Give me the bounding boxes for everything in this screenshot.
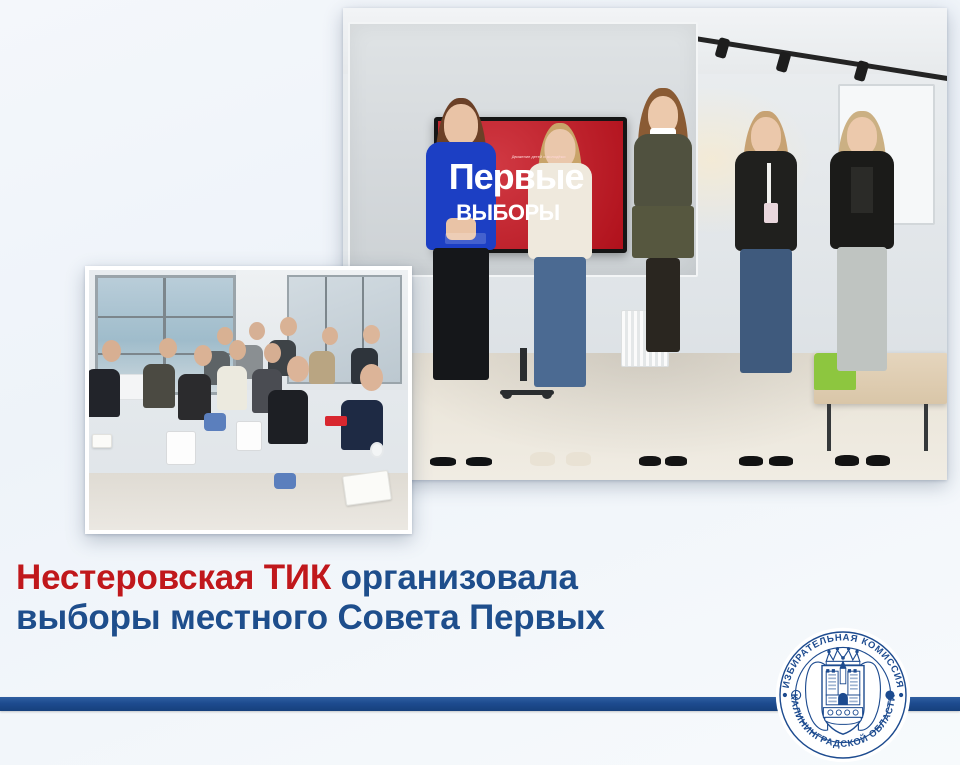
folding-chair xyxy=(166,431,196,465)
audience-head xyxy=(159,338,177,358)
audience-head xyxy=(102,340,121,362)
screen-subtitle: ВЫБОРЫ xyxy=(456,200,560,226)
main-photo: Первые Движение детей и молодёжи ВЫБОРЫ xyxy=(343,8,947,480)
audience-head xyxy=(363,325,380,344)
audience-head xyxy=(249,322,265,340)
document-sheet xyxy=(342,470,392,506)
audience-head xyxy=(287,356,309,382)
emblem-circle-right xyxy=(885,690,894,699)
red-folder xyxy=(325,416,347,426)
blue-chair xyxy=(204,413,226,431)
audience-body xyxy=(217,366,247,410)
screen-logo xyxy=(445,233,486,245)
audience-body xyxy=(309,351,335,384)
screen-caption: Движение детей и молодёжи xyxy=(512,154,566,159)
audience-body xyxy=(86,369,120,417)
audience-body xyxy=(143,364,175,408)
folding-chair xyxy=(236,421,262,451)
audience-head xyxy=(360,364,383,391)
emblem-dot-left xyxy=(783,693,787,697)
document-sheet xyxy=(92,434,112,448)
inset-photo-scene xyxy=(89,270,408,530)
slide-canvas: Первые Движение детей и молодёжи ВЫБОРЫ xyxy=(0,0,960,765)
page-title: Нестеровская ТИК организовала выборы мес… xyxy=(16,558,756,637)
person-figure xyxy=(820,107,905,466)
person-figure xyxy=(621,88,706,466)
caption-line-1: Нестеровская ТИК организовала xyxy=(16,558,756,598)
person-figure xyxy=(724,107,809,466)
audience-head xyxy=(322,327,338,345)
caption-line1-rest: организовала xyxy=(331,558,578,597)
audience-body xyxy=(268,390,308,444)
inset-photo xyxy=(85,266,412,534)
rosette-badge xyxy=(370,442,384,458)
election-commission-emblem: ИЗБИРАТЕЛЬНАЯ КОМИССИЯ КАЛИНИНГРАДСКОЙ О… xyxy=(773,625,913,765)
caption-line-2: выборы местного Совета Первых xyxy=(16,598,756,638)
person-figure xyxy=(415,98,506,466)
screen-title: Первые xyxy=(449,159,584,195)
caption-highlight: Нестеровская ТИК xyxy=(16,558,331,597)
blue-chair xyxy=(274,473,296,489)
emblem-dot-right xyxy=(899,693,903,697)
emblem-svg: ИЗБИРАТЕЛЬНАЯ КОМИССИЯ КАЛИНИНГРАДСКОЙ О… xyxy=(773,625,913,765)
main-photo-scene: Первые Движение детей и молодёжи ВЫБОРЫ xyxy=(343,8,947,480)
